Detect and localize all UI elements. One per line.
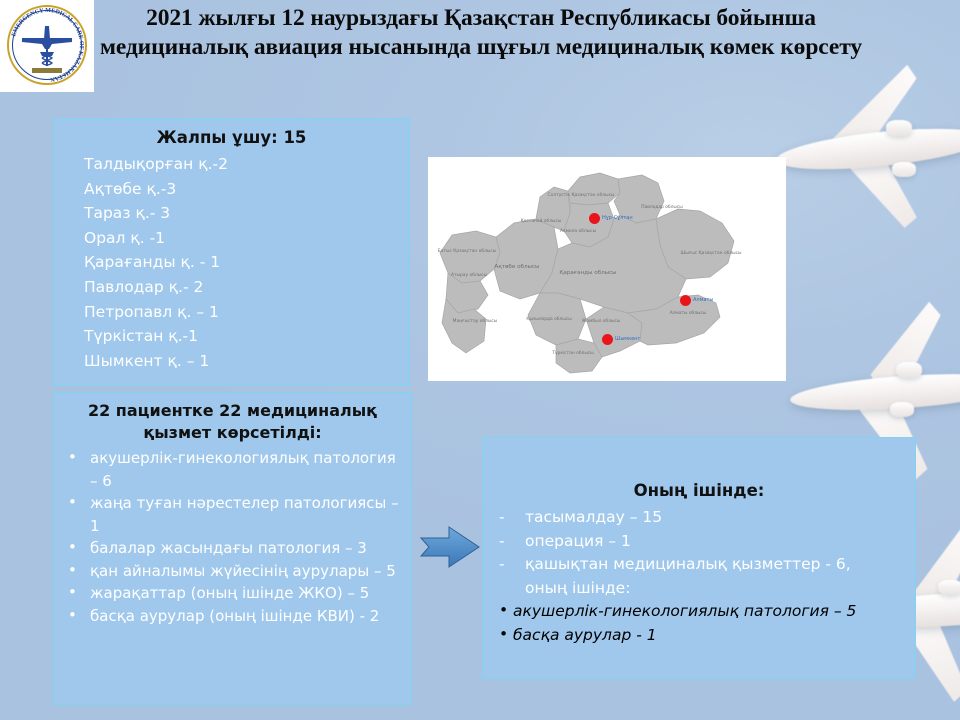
- city-label: Алматы: [693, 297, 713, 303]
- list-item: Түркістан қ.-1: [84, 324, 409, 349]
- kazakhstan-map-svg: [428, 157, 786, 381]
- list-item: Павлодар қ.- 2: [84, 275, 409, 300]
- organization-logo: EMERGENCY MEDICAL CARE OF KAZAKHSTAN: [0, 0, 94, 92]
- list-item: операция – 1: [491, 530, 909, 554]
- breakdown-sub-list: акушерлік-гинекологиялық патология – 5 б…: [483, 600, 915, 647]
- breakdown-list: тасымалдау – 15 операция – 1 қашықтан ме…: [483, 506, 915, 600]
- patients-heading-line-1: 22 пациентке 22 медициналық: [54, 400, 411, 422]
- list-item: қашықтан медициналық қызметтер - 6,: [491, 553, 909, 577]
- region-label: Ақтөбе облысы: [486, 265, 548, 270]
- list-item: Талдықорған қ.-2: [84, 152, 409, 177]
- breakdown-panel: Оның ішінде: тасымалдау – 15 операция – …: [482, 437, 916, 679]
- region-label: Шығыс Қазақстан облысы: [678, 251, 744, 256]
- list-item: Шымкент қ. – 1: [84, 349, 409, 374]
- list-item: қан айналымы жүйесінің аурулары – 5: [64, 560, 407, 583]
- city-pin-nur-sultan: [589, 213, 600, 224]
- flights-panel-heading: Жалпы ұшу: 15: [54, 119, 409, 148]
- patients-summary-panel: 22 пациентке 22 медициналық қызмет көрсе…: [53, 392, 412, 705]
- region-label: Түркістан облысы: [546, 351, 600, 356]
- list-item: Петропавл қ. – 1: [84, 300, 409, 325]
- list-item: басқа аурулар (оның ішінде КВИ) - 2: [64, 605, 407, 628]
- city-pin-almaty: [680, 295, 691, 306]
- region-label: Ақмола облысы: [550, 229, 606, 234]
- list-item: Қарағанды қ. - 1: [84, 250, 409, 275]
- city-pin-shymkent: [602, 334, 613, 345]
- list-item: тасымалдау – 15: [491, 506, 909, 530]
- patients-list: акушерлік-гинекологиялық патология – 6 ж…: [54, 447, 411, 627]
- list-item: жаңа туған нәрестелер патологиясы – 1: [64, 492, 407, 537]
- list-item: жарақаттар (оның ішінде ЖКО) – 5: [64, 582, 407, 605]
- region-label: Қызылорда облысы: [520, 317, 578, 322]
- slide-canvas: EMERGENCY MEDICAL CARE OF KAZAKHSTAN 202…: [0, 0, 960, 720]
- patients-heading-line-2: қызмет көрсетілді:: [54, 422, 411, 444]
- region-label: Атырау облысы: [440, 273, 498, 278]
- list-item: балалар жасындағы патология – 3: [64, 537, 407, 560]
- list-item: Орал қ. -1: [84, 226, 409, 251]
- flights-list: Талдықорған қ.-2 Ақтөбе қ.-3 Тараз қ.- 3…: [54, 152, 409, 373]
- flights-summary-panel: Жалпы ұшу: 15 Талдықорған қ.-2 Ақтөбе қ.…: [53, 118, 410, 386]
- region-label: Батыс Қазақстан облысы: [436, 249, 498, 254]
- region-label: Солтүстік Қазақстан облысы: [546, 193, 616, 198]
- region-label: Қарағанды облысы: [552, 271, 624, 276]
- list-item: Ақтөбе қ.-3: [84, 177, 409, 202]
- region-label: Жамбыл облысы: [574, 319, 628, 324]
- region-label: Алматы облысы: [660, 311, 716, 316]
- region-label: Қостанай облысы: [516, 219, 566, 224]
- logo-plane-caduceus-icon: [18, 22, 76, 74]
- list-item: акушерлік-гинекологиялық патология – 6: [64, 447, 407, 492]
- region-label: Павлодар облысы: [634, 205, 690, 210]
- breakdown-continuation: оның ішінде:: [491, 577, 909, 601]
- patients-panel-heading: 22 пациентке 22 медициналық қызмет көрсе…: [54, 393, 411, 444]
- list-item: Тараз қ.- 3: [84, 201, 409, 226]
- right-arrow-icon: [419, 524, 481, 570]
- city-label: Шымкент: [615, 336, 640, 342]
- slide-title: 2021 жылғы 12 наурыздағы Қазақстан Респу…: [96, 4, 866, 62]
- kazakhstan-map-image: Солтүстік Қазақстан облысы Павлодар облы…: [428, 157, 786, 381]
- city-label: Нұр-Сұлтан: [602, 215, 633, 221]
- list-item: акушерлік-гинекологиялық патология – 5: [497, 600, 915, 624]
- list-item: басқа аурулар - 1: [497, 624, 915, 648]
- breakdown-panel-heading: Оның ішінде:: [483, 438, 915, 502]
- region-label: Маңғыстау облысы: [446, 319, 504, 324]
